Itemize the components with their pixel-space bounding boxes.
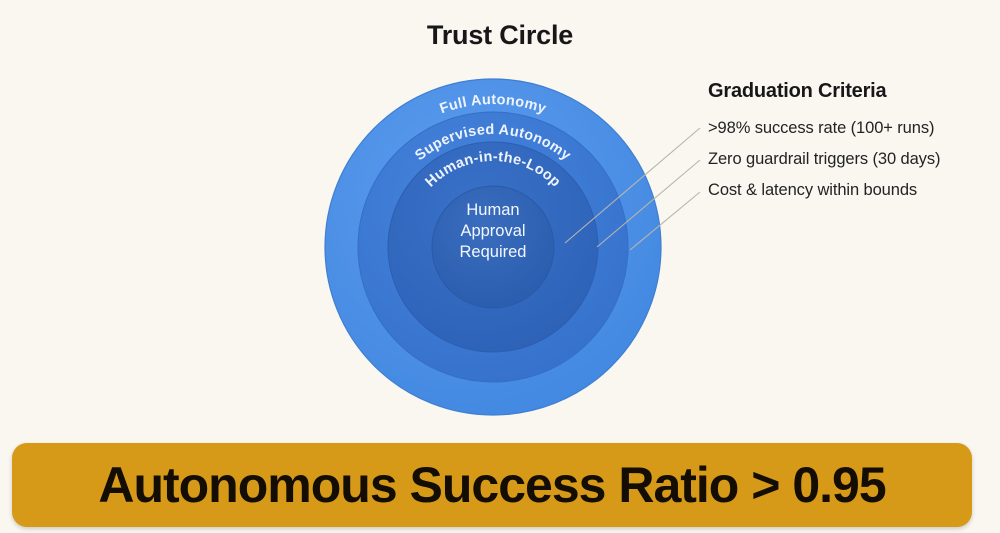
criteria-item-success-rate: >98% success rate (100+ runs) (708, 119, 994, 138)
slide-canvas: Trust Circle (0, 0, 1000, 533)
core-line-2: Approval (431, 221, 555, 242)
autonomous-success-banner: Autonomous Success Ratio > 0.95 (12, 443, 972, 527)
criteria-title: Graduation Criteria (708, 80, 994, 103)
page-title: Trust Circle (0, 20, 1000, 51)
criteria-item-guardrail-triggers: Zero guardrail triggers (30 days) (708, 150, 994, 169)
trust-circle-diagram: Full Autonomy Supervised Autonomy Human-… (318, 72, 668, 420)
criteria-item-cost-latency: Cost & latency within bounds (708, 181, 994, 200)
core-line-1: Human (431, 200, 555, 221)
banner-text: Autonomous Success Ratio > 0.95 (98, 456, 885, 514)
graduation-criteria-panel: Graduation Criteria >98% success rate (1… (708, 80, 994, 200)
core-label: Human Approval Required (431, 200, 555, 263)
core-line-3: Required (431, 242, 555, 263)
